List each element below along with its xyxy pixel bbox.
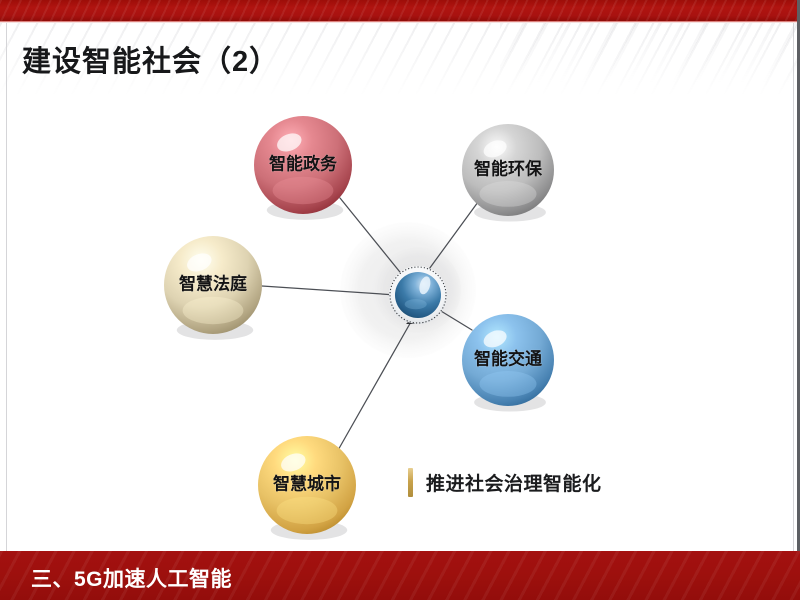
- node-bounce-light: [479, 371, 536, 397]
- bottom-red-band: 三、5G加速人工智能: [0, 551, 800, 600]
- caption-text: 推进社会治理智能化: [426, 469, 602, 496]
- top-band-stripe-texture: [0, 0, 800, 21]
- page-title: 建设智能社会（2）: [22, 38, 279, 80]
- diagram-svg: 智能政务智能环保智慧法庭智能交通智慧城市: [0, 90, 800, 545]
- center-hub-sphere[interactable]: [389, 266, 447, 324]
- node-label-zhineng-jiaotong: 智能交通: [474, 348, 542, 368]
- slide-canvas: 建设智能社会（2）: [0, 0, 800, 600]
- hub-ball[interactable]: [395, 272, 441, 318]
- node-sphere-zhineng-jiaotong[interactable]: 智能交通: [462, 314, 554, 412]
- node-sphere-zhihui-chengshi[interactable]: 智慧城市: [258, 436, 356, 540]
- hub-bounce-light: [405, 299, 427, 309]
- node-bounce-light: [479, 181, 536, 207]
- node-bounce-light: [277, 497, 338, 524]
- node-sphere-zhineng-huanbao[interactable]: 智能环保: [462, 124, 554, 222]
- node-label-zhineng-zhengwu: 智能政务: [269, 153, 338, 173]
- top-red-band: [0, 0, 800, 21]
- header-diagonal-texture-secondary: [500, 23, 800, 83]
- node-sphere-zhineng-zhengwu[interactable]: 智能政务: [254, 116, 352, 220]
- node-label-zhihui-fating: 智慧法庭: [179, 273, 247, 293]
- node-label-zhihui-chengshi: 智慧城市: [273, 473, 341, 493]
- node-sphere-zhihui-fating[interactable]: 智慧法庭: [164, 236, 262, 340]
- top-band-edge-highlight: [0, 21, 800, 23]
- hub-and-spoke-diagram: 智能政务智能环保智慧法庭智能交通智慧城市: [0, 90, 800, 545]
- caption-block: 推进社会治理智能化: [408, 468, 602, 497]
- caption-gold-bar: [408, 468, 413, 497]
- node-label-zhineng-huanbao: 智能环保: [474, 158, 543, 178]
- node-bounce-light: [183, 297, 244, 324]
- section-footer-label: 三、5G加速人工智能: [31, 563, 232, 593]
- node-bounce-light: [273, 177, 334, 204]
